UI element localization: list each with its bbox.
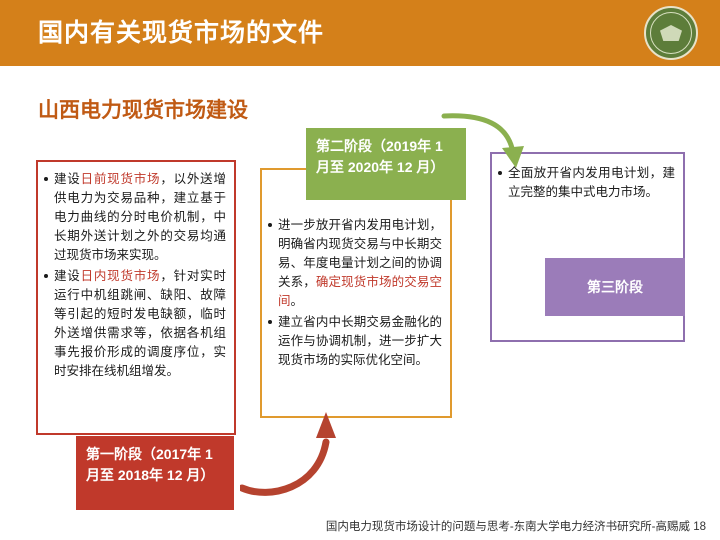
university-seal-logo	[644, 6, 698, 60]
stage2-label: 第二阶段（2019年 1 月至 2020年 12 月）	[306, 128, 466, 200]
list-item: 全面放开省内发用电计划，建立完整的集中式电力市场。	[498, 164, 675, 202]
slide-title: 山西电力现货市场建设	[38, 94, 248, 124]
list-item: 进一步放开省内发用电计划，明确省内现货交易与中长期交易、年度电量计划之间的协调关…	[268, 216, 442, 311]
stage2-content: 进一步放开省内发用电计划，明确省内现货交易与中长期交易、年度电量计划之间的协调关…	[262, 170, 450, 370]
header-title: 国内有关现货市场的文件	[38, 13, 324, 49]
footer-citation: 国内电力现货市场设计的问题与思考-东南大学电力经济书研究所-高赐威 18	[326, 518, 706, 534]
stage3-content: 全面放开省内发用电计划，建立完整的集中式电力市场。	[492, 154, 683, 202]
logo-inner-shape	[660, 25, 682, 41]
slide-header-bar: 国内有关现货市场的文件	[0, 0, 720, 66]
stage1-content-box: 建设日前现货市场，以外送增供电力为交易品种，建立基于电力曲线的分时电价机制，中长…	[36, 160, 236, 435]
stage1-content: 建设日前现货市场，以外送增供电力为交易品种，建立基于电力曲线的分时电价机制，中长…	[38, 162, 234, 381]
list-item: 建设日前现货市场，以外送增供电力为交易品种，建立基于电力曲线的分时电价机制，中长…	[44, 170, 226, 265]
stage1-label: 第一阶段（2017年 1 月至 2018年 12 月）	[76, 436, 234, 510]
list-item: 建立省内中长期交易金融化的运作与协调机制，进一步扩大现货市场的实际优化空间。	[268, 313, 442, 370]
stage2-bullet-list: 进一步放开省内发用电计划，明确省内现货交易与中长期交易、年度电量计划之间的协调关…	[268, 216, 442, 370]
stage1-bullet-list: 建设日前现货市场，以外送增供电力为交易品种，建立基于电力曲线的分时电价机制，中长…	[44, 170, 226, 381]
list-item: 建设日内现货市场，针对实时运行中机组跳闸、缺阳、故障等引起的短时发电缺额，临时外…	[44, 267, 226, 381]
stage3-label: 第三阶段	[545, 258, 685, 316]
stage3-bullet-list: 全面放开省内发用电计划，建立完整的集中式电力市场。	[498, 164, 675, 202]
stage2-content-box: 进一步放开省内发用电计划，明确省内现货交易与中长期交易、年度电量计划之间的协调关…	[260, 168, 452, 418]
logo-ring	[650, 12, 692, 54]
